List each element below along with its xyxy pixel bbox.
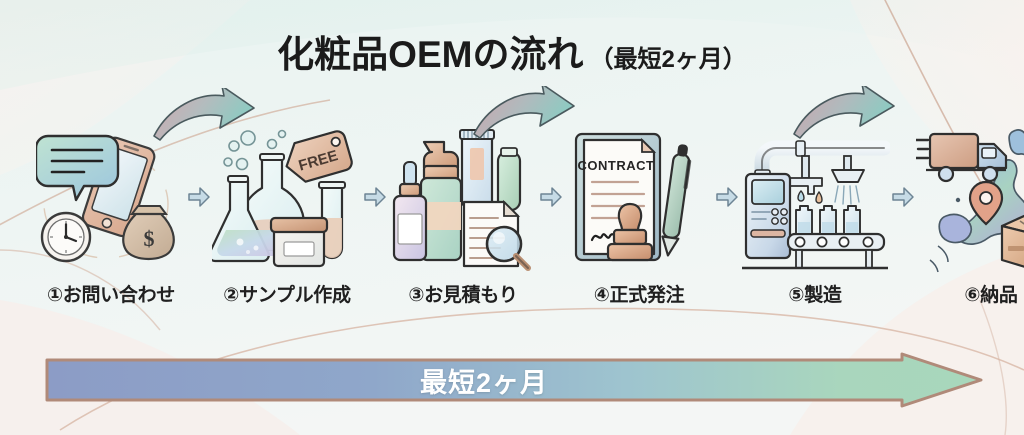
- page-title: 化粧品OEMの流れ （最短2ヶ月）: [0, 24, 1024, 78]
- shower-head-icon: [832, 156, 864, 204]
- contract-title-text: CONTRACT: [578, 158, 655, 173]
- infographic-canvas: 化粧品OEMの流れ （最短2ヶ月）: [0, 0, 1024, 435]
- svg-text:$: $: [144, 226, 155, 251]
- bottle-icon: [796, 206, 860, 234]
- connector-4: [714, 118, 740, 276]
- pipe-icon: [755, 141, 884, 177]
- arrow-right-icon: [187, 185, 211, 209]
- small-tube-icon: [498, 148, 520, 210]
- pen-icon: [660, 143, 693, 256]
- long-arrow-right-icon: [44, 352, 984, 408]
- arrow-right-icon: [715, 185, 739, 209]
- step-3-label: ③お見積もり: [408, 280, 517, 307]
- delivery-truck-icon: [916, 134, 1006, 181]
- step-4-label: ④正式発注: [594, 280, 685, 307]
- dropper-bottle-icon: [394, 162, 426, 260]
- price-tag-icon: FREE: [281, 129, 354, 185]
- money-bag-icon: $: [123, 206, 174, 259]
- step-6[interactable]: ⑥納品: [916, 118, 1024, 307]
- clock-icon: [42, 213, 90, 261]
- step-4[interactable]: CONTRACT: [564, 118, 714, 307]
- step-3-illustration: [388, 118, 538, 276]
- step-2-illustration: FREE: [212, 118, 362, 276]
- duration-banner: 最短2ヶ月: [44, 352, 984, 408]
- arrow-right-icon: [363, 185, 387, 209]
- process-steps: $ ①お問い合わせ: [0, 118, 1024, 328]
- step-2[interactable]: FREE ②サンプル作成: [212, 118, 362, 307]
- step-2-label: ②サンプル作成: [223, 280, 350, 307]
- factory-machine-icon: [746, 174, 790, 258]
- cosmetic-jar-icon: [271, 218, 327, 266]
- speed-lines-icon: [916, 140, 928, 158]
- title-sub-text: （最短2ヶ月）: [589, 39, 746, 74]
- step-5-illustration: [740, 118, 890, 276]
- step-1-illustration: $: [36, 118, 186, 276]
- cream-tube-icon: [460, 130, 494, 206]
- step-5-label: ⑤製造: [788, 280, 841, 307]
- step-5[interactable]: ⑤製造: [740, 118, 890, 307]
- connector-1: [186, 118, 212, 276]
- step-3[interactable]: ③お見積もり: [388, 118, 538, 307]
- connector-2: [362, 118, 388, 276]
- arrow-right-icon: [891, 185, 915, 209]
- step-6-label: ⑥納品: [964, 280, 1017, 307]
- connector-5: [890, 118, 916, 276]
- cardboard-box-icon: [1002, 216, 1024, 272]
- step-1[interactable]: $ ①お問い合わせ: [36, 118, 186, 307]
- connector-3: [538, 118, 564, 276]
- step-1-label: ①お問い合わせ: [47, 280, 175, 307]
- step-6-illustration: [916, 118, 1024, 276]
- title-main-text: 化粧品OEMの流れ: [277, 24, 583, 78]
- arrow-right-icon: [539, 185, 563, 209]
- step-4-illustration: CONTRACT: [564, 118, 714, 276]
- nozzle-icon: [790, 156, 822, 203]
